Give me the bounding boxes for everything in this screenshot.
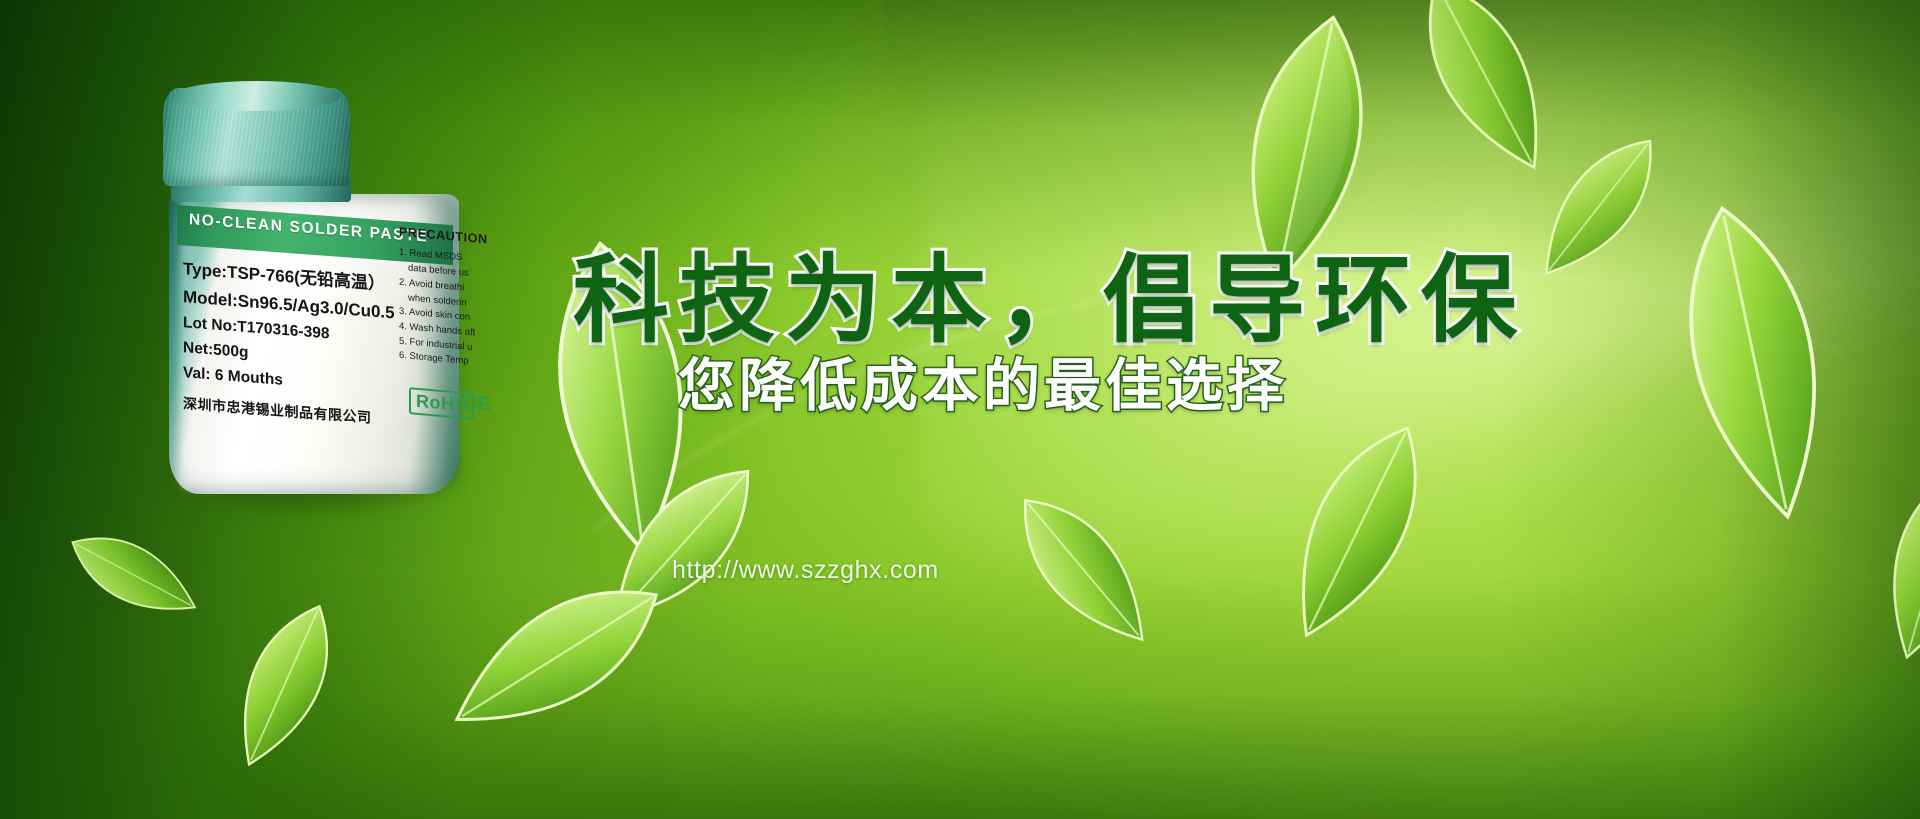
jar-lid-top bbox=[173, 81, 341, 111]
website-url: http://www.szzghx.com bbox=[672, 556, 939, 585]
label-precaution-block: PRECAUTION 1. Read MSDS data before us 2… bbox=[399, 223, 519, 413]
label-spec-list: Type:TSP-766(无铅高温） Model:Sn96.5/Ag3.0/Cu… bbox=[183, 255, 413, 433]
ce-mark-icon: CE bbox=[463, 392, 491, 417]
subheadline-text: 您降低成本的最佳选择 bbox=[678, 340, 1288, 422]
product-image: NO-CLEAN SOLDER PASTE Type:TSP-766(无铅高温）… bbox=[163, 88, 463, 496]
promo-banner: NO-CLEAN SOLDER PASTE Type:TSP-766(无铅高温）… bbox=[0, 0, 1920, 819]
